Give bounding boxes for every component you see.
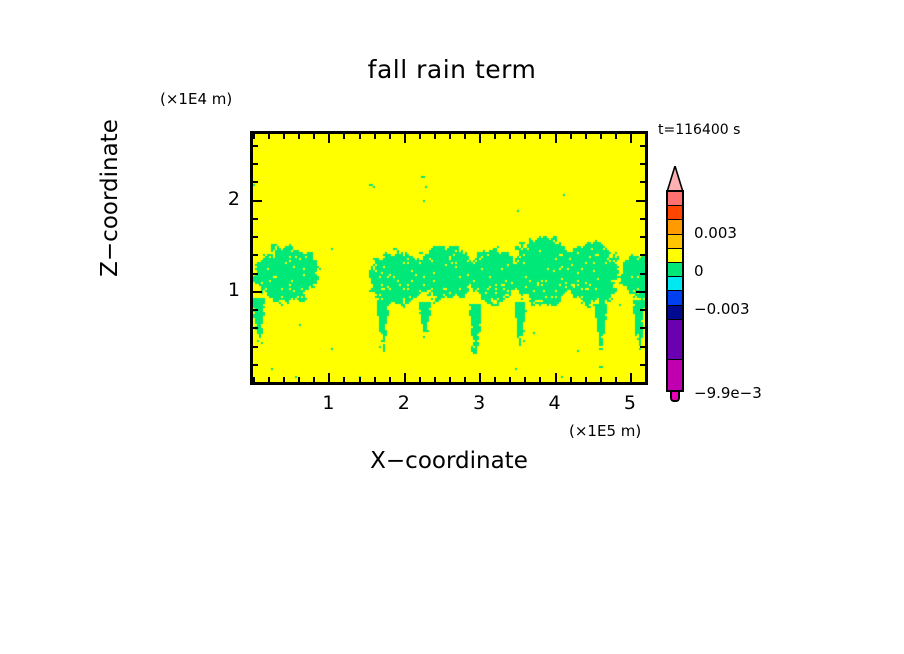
colorbar-arrow-icon [666, 166, 684, 192]
x-minor-tick [389, 377, 391, 382]
x-major-tick-top [328, 134, 330, 143]
x-minor-tick [524, 377, 526, 382]
colorbar-segment [668, 192, 682, 205]
y-major-tick [253, 291, 262, 293]
y-minor-tick [253, 218, 258, 220]
x-minor-tick [645, 377, 647, 382]
colorbar-tick-label: −9.9e−3 [694, 384, 762, 402]
y-minor-tick-right [640, 309, 645, 311]
x-minor-tick-top [389, 134, 391, 139]
x-major-tick [328, 373, 330, 382]
colorbar-segment [668, 290, 682, 304]
x-major-tick-top [404, 134, 406, 143]
colorbar-tick-label: 0 [694, 262, 704, 280]
x-minor-tick [313, 377, 315, 382]
y-minor-tick-right [640, 181, 645, 183]
x-minor-tick-top [600, 134, 602, 139]
x-minor-tick-top [268, 134, 270, 139]
x-minor-tick-top [283, 134, 285, 139]
x-minor-tick [449, 377, 451, 382]
x-minor-tick-top [434, 134, 436, 139]
x-minor-tick-top [494, 134, 496, 139]
x-major-tick [555, 373, 557, 382]
y-minor-tick [253, 346, 258, 348]
colorbar-segment [668, 205, 682, 219]
page-title: fall rain term [0, 55, 904, 84]
figure-root: fall rain term (×1E4 m) (×1E5 m) t=11640… [0, 0, 904, 654]
x-minor-tick-top [359, 134, 361, 139]
x-minor-tick [359, 377, 361, 382]
colorbar-tick-label: −0.003 [694, 300, 750, 318]
y-minor-tick [253, 145, 258, 147]
x-minor-tick-top [374, 134, 376, 139]
x-axis-unit-label: (×1E5 m) [569, 422, 641, 440]
x-minor-tick [298, 377, 300, 382]
x-major-tick [630, 373, 632, 382]
colorbar-segment [668, 219, 682, 233]
y-minor-tick [253, 309, 258, 311]
x-major-tick-top [630, 134, 632, 143]
x-minor-tick [283, 377, 285, 382]
x-major-tick-top [479, 134, 481, 143]
x-minor-tick-top [539, 134, 541, 139]
x-minor-tick [464, 377, 466, 382]
x-minor-tick-top [313, 134, 315, 139]
x-minor-tick [585, 377, 587, 382]
colorbar-segment [668, 319, 682, 360]
x-tick-label: 1 [316, 392, 340, 414]
y-major-tick-right [636, 291, 645, 293]
y-minor-tick-right [640, 364, 645, 366]
colorbar-segment [668, 305, 682, 319]
x-minor-tick [343, 377, 345, 382]
y-minor-tick [253, 254, 258, 256]
timestamp-label: t=116400 s [658, 122, 740, 138]
x-minor-tick [570, 377, 572, 382]
y-axis-unit-label: (×1E4 m) [160, 90, 232, 108]
colorbar-tail [670, 392, 680, 402]
x-minor-tick-top [464, 134, 466, 139]
plot-area [250, 131, 648, 385]
x-minor-tick-top [509, 134, 511, 139]
x-minor-tick [419, 377, 421, 382]
x-minor-tick-top [343, 134, 345, 139]
x-minor-tick-top [253, 134, 255, 139]
colorbar-segment [668, 276, 682, 290]
y-axis-title: Z−coordinate [97, 18, 123, 378]
colorbar-tick-label: 0.003 [694, 224, 737, 242]
y-minor-tick-right [640, 382, 645, 384]
x-minor-tick-top [298, 134, 300, 139]
x-tick-label: 4 [543, 392, 567, 414]
x-tick-label: 2 [392, 392, 416, 414]
y-minor-tick [253, 236, 258, 238]
colorbar-segment [668, 248, 682, 262]
colorbar-segment [668, 359, 682, 392]
y-major-tick-right [636, 200, 645, 202]
x-tick-label: 5 [618, 392, 642, 414]
x-minor-tick [615, 377, 617, 382]
x-minor-tick-top [645, 134, 647, 139]
x-minor-tick [600, 377, 602, 382]
y-minor-tick-right [640, 254, 645, 256]
x-minor-tick [509, 377, 511, 382]
y-minor-tick-right [640, 327, 645, 329]
x-tick-label: 3 [467, 392, 491, 414]
x-minor-tick [494, 377, 496, 382]
x-major-tick [404, 373, 406, 382]
y-tick-label: 2 [218, 188, 240, 210]
y-tick-label: 1 [218, 279, 240, 301]
colorbar-segment [668, 262, 682, 276]
x-minor-tick-top [615, 134, 617, 139]
y-minor-tick-right [640, 163, 645, 165]
x-minor-tick-top [585, 134, 587, 139]
colorbar-segment [668, 234, 682, 248]
y-minor-tick [253, 181, 258, 183]
x-major-tick-top [555, 134, 557, 143]
y-minor-tick-right [640, 145, 645, 147]
x-minor-tick [539, 377, 541, 382]
y-minor-tick-right [640, 218, 645, 220]
x-minor-tick [268, 377, 270, 382]
y-minor-tick [253, 327, 258, 329]
heatmap-canvas [253, 134, 645, 382]
x-minor-tick [374, 377, 376, 382]
x-axis-title: X−coordinate [250, 448, 648, 474]
x-minor-tick-top [419, 134, 421, 139]
y-major-tick [253, 200, 262, 202]
y-minor-tick-right [640, 273, 645, 275]
y-minor-tick-right [640, 236, 645, 238]
y-minor-tick [253, 163, 258, 165]
colorbar: 0.0030−0.003−9.9e−3 [664, 166, 794, 396]
y-minor-tick [253, 364, 258, 366]
y-minor-tick-right [640, 346, 645, 348]
x-minor-tick-top [524, 134, 526, 139]
x-minor-tick [434, 377, 436, 382]
x-minor-tick-top [449, 134, 451, 139]
y-minor-tick [253, 273, 258, 275]
colorbar-gradient [666, 190, 684, 392]
x-major-tick [479, 373, 481, 382]
x-minor-tick-top [570, 134, 572, 139]
y-minor-tick [253, 382, 258, 384]
